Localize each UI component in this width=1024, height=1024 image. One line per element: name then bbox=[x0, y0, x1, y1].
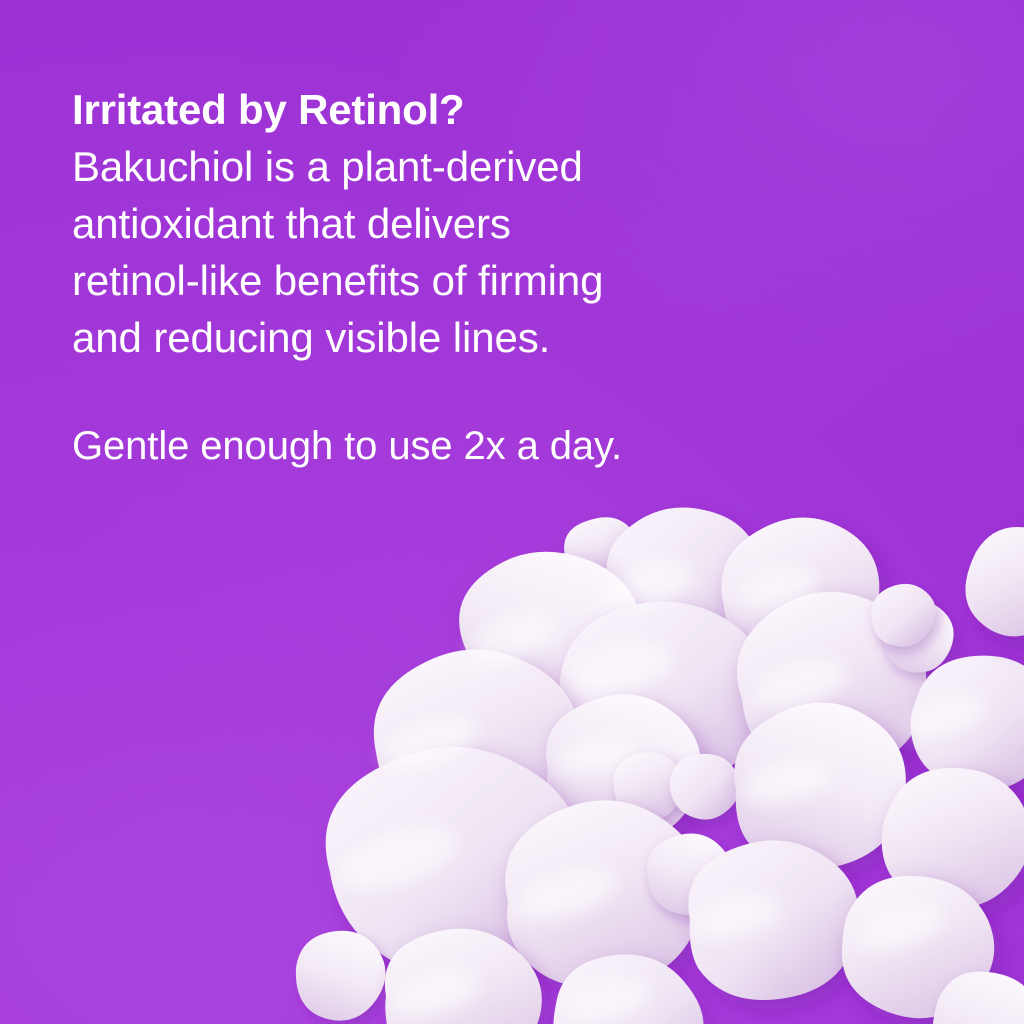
body-line: antioxidant that delivers bbox=[72, 195, 792, 252]
subline: Gentle enough to use 2x a day. bbox=[72, 366, 792, 472]
body-line: and reducing visible lines. bbox=[72, 309, 792, 366]
headline: Irritated by Retinol? bbox=[72, 82, 792, 138]
body-line: retinol-like benefits of firming bbox=[72, 252, 792, 309]
copy-block: Irritated by Retinol? Bakuchiol is a pla… bbox=[72, 82, 792, 472]
body-line: Bakuchiol is a plant-derived bbox=[72, 138, 792, 195]
product-info-card: Irritated by Retinol? Bakuchiol is a pla… bbox=[0, 0, 1024, 1024]
body-paragraph: Bakuchiol is a plant-derived antioxidant… bbox=[72, 138, 792, 366]
